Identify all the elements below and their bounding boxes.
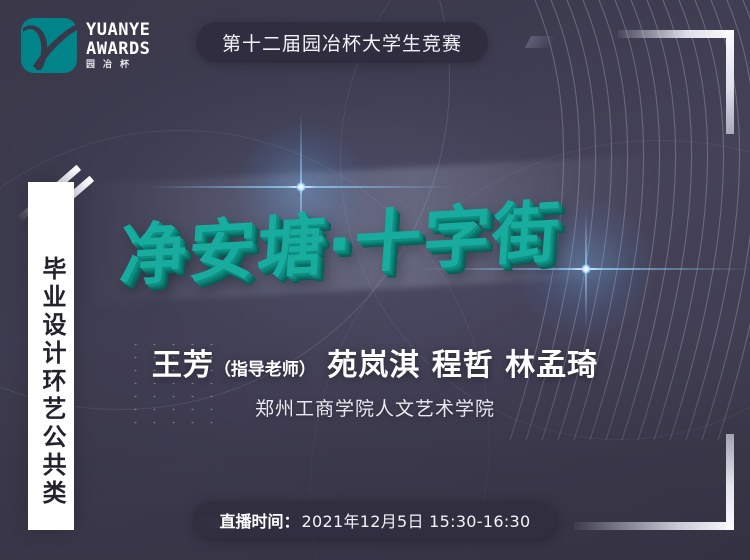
logo-line-yuanye: YUANYE	[86, 22, 150, 39]
logo-wordmark: YUANYE AWARDS 园冶杯	[86, 22, 150, 70]
logo-bird-glyph	[21, 18, 77, 73]
poster-canvas: YUANYE AWARDS 园冶杯 第十二届园冶杯大学生竞赛 毕业设计环艺公共类…	[0, 0, 750, 560]
advisor-name: 王芳	[152, 348, 214, 383]
title-pill-tail	[525, 36, 557, 48]
credits-names: 王芳（指导老师） 苑岚淇 程哲 林孟琦	[0, 340, 750, 384]
student-names: 苑岚淇 程哲 林孟琦	[327, 348, 598, 383]
project-title: 净安塘·十字街	[117, 177, 565, 299]
school-name: 郑州工商学院人文艺术学院	[0, 394, 750, 421]
live-time-label: 直播时间：	[220, 508, 300, 532]
live-time-value: 2021年12月5日 15:30-16:30	[302, 508, 531, 532]
yuanye-logo-mark	[21, 18, 77, 73]
yuanye-awards-logo: YUANYE AWARDS 园冶杯	[21, 18, 150, 73]
competition-title-text: 第十二届园冶杯大学生竞赛	[222, 29, 462, 56]
project-title-block: 净安塘·十字街	[120, 186, 660, 290]
logo-line-awards: AWARDS	[86, 41, 150, 58]
live-time-pill: 直播时间： 2021年12月5日 15:30-16:30	[194, 502, 557, 538]
competition-title-pill: 第十二届园冶杯大学生竞赛	[196, 22, 488, 63]
advisor-role: （指导老师）	[214, 360, 316, 380]
corner-bracket-bottom-right	[574, 434, 734, 530]
logo-line-chinese: 园冶杯	[86, 61, 150, 70]
credits-block: 王芳（指导老师） 苑岚淇 程哲 林孟琦 郑州工商学院人文艺术学院	[0, 340, 750, 421]
corner-bracket-top-right	[618, 30, 734, 134]
